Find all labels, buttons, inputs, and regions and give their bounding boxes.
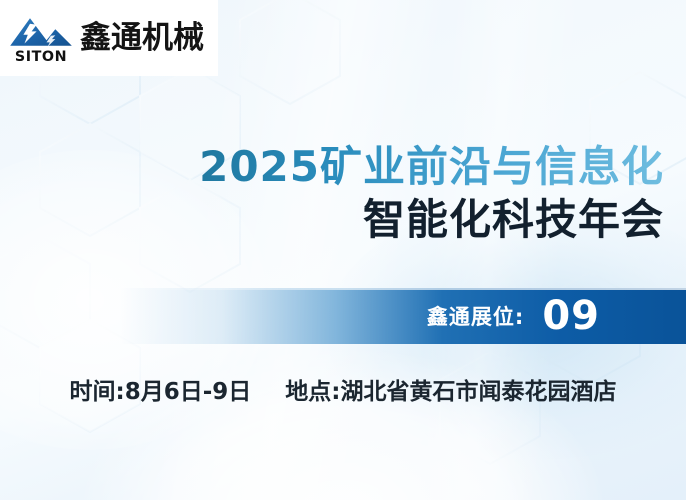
- mountain-logo-icon: SITON: [8, 10, 74, 66]
- booth-number: 09: [542, 296, 600, 336]
- event-info-row: 时间:8月6日-9日 地点:湖北省黄石市闻泰花园酒店: [0, 372, 686, 406]
- poster-root: SITON 鑫通机械 2025矿业前沿与信息化 智能化科技年会 鑫通展位: 09…: [0, 0, 686, 500]
- event-time: 时间:8月6日-9日: [70, 372, 252, 406]
- title-line-2: 智能化科技年会: [0, 196, 664, 245]
- svg-text:SITON: SITON: [15, 49, 67, 65]
- brand-logo: SITON 鑫通机械: [0, 0, 218, 76]
- booth-banner: 鑫通展位: 09: [120, 288, 686, 344]
- booth-label: 鑫通展位:: [427, 301, 524, 331]
- headline-block: 2025矿业前沿与信息化 智能化科技年会: [0, 143, 664, 244]
- brand-chinese-name: 鑫通机械: [80, 23, 204, 54]
- event-location: 地点:湖北省黄石市闻泰花园酒店: [285, 372, 616, 406]
- title-line-1: 2025矿业前沿与信息化: [0, 143, 664, 192]
